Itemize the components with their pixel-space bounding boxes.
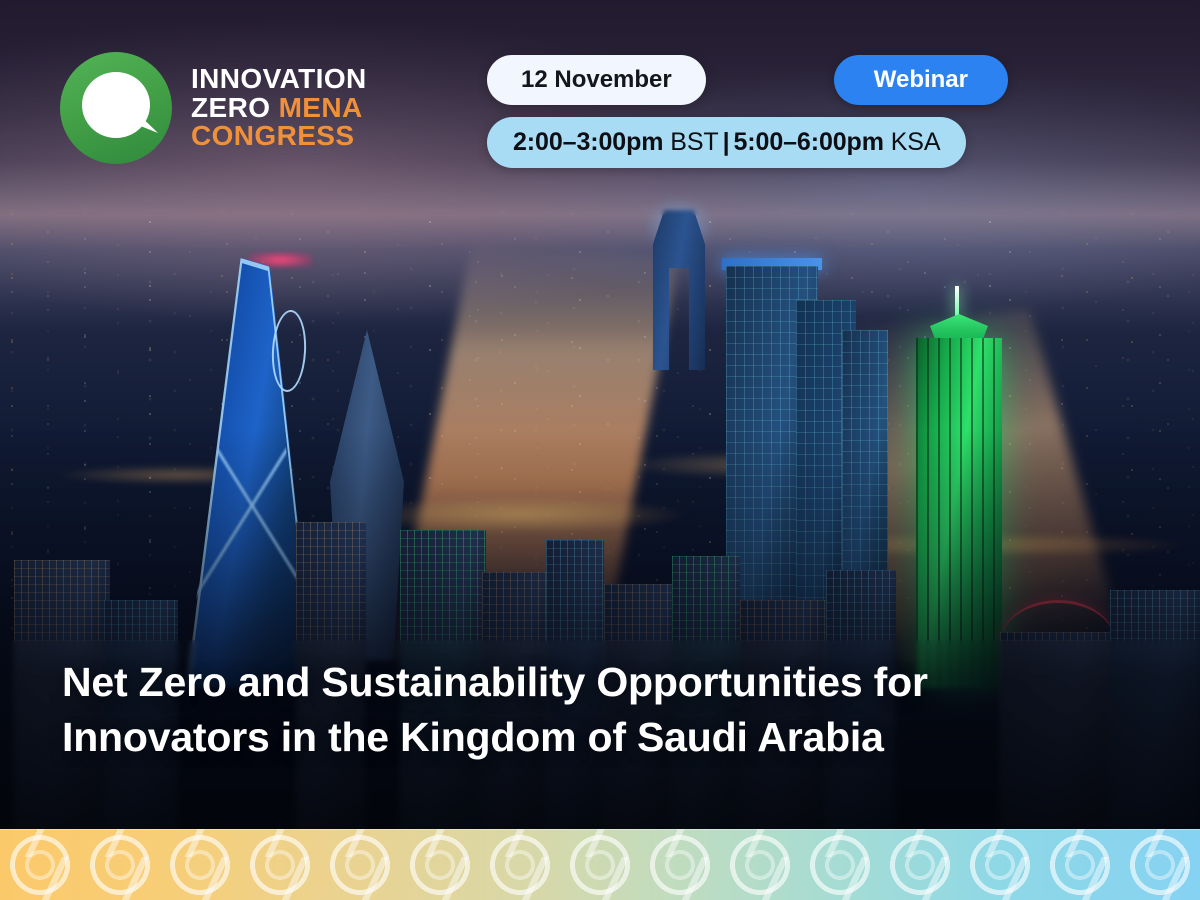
bottom-dark-scrim [0,430,1200,830]
green-tower-spire [955,286,959,318]
time-ksa-range: 5:00–6:00pm [733,128,883,157]
banner-title-block: Net Zero and Sustainability Opportunitie… [62,655,1142,765]
wordmark-line-1: INNOVATION [191,65,367,94]
wordmark-line-2: ZERO MENA [191,94,367,123]
time-separator: | [719,128,734,157]
event-time-badge: 2:00–3:00pm BST|5:00–6:00pm KSA [487,117,966,168]
wordmark-line-3: CONGRESS [191,122,367,151]
speech-bubble-tails-layer [0,829,1200,900]
brand-logo-lockup[interactable]: INNOVATION ZERO MENA CONGRESS [60,52,367,164]
speech-bubble-logo-icon [60,52,172,164]
header-badge-group: 12 November Webinar 2:00–3:00pm BST|5:00… [487,55,1008,168]
footer-pattern-band [0,829,1200,900]
footer-band-top-edge [0,829,1200,830]
wordmark-mena: MENA [279,92,363,123]
event-title-line-2: Innovators in the Kingdom of Saudi Arabi… [62,710,1142,765]
event-date-badge: 12 November [487,55,706,105]
event-type-badge: Webinar [834,55,1008,105]
wordmark-innovation: INNOVATION [191,63,367,94]
badge-row-primary: 12 November Webinar [487,55,1008,105]
banner-header: INNOVATION ZERO MENA CONGRESS 12 Novembe… [0,0,1200,190]
time-bst-range: 2:00–3:00pm [513,128,663,157]
promotional-banner: INNOVATION ZERO MENA CONGRESS 12 Novembe… [0,0,1200,900]
event-title-line-1: Net Zero and Sustainability Opportunitie… [62,655,1142,710]
speech-bubble-body-icon [82,72,150,138]
time-bst-zone: BST [670,128,718,157]
wordmark-congress: CONGRESS [191,120,354,151]
time-ksa-zone: KSA [891,128,941,157]
brand-wordmark: INNOVATION ZERO MENA CONGRESS [191,65,367,151]
wordmark-zero: ZERO [191,92,270,123]
